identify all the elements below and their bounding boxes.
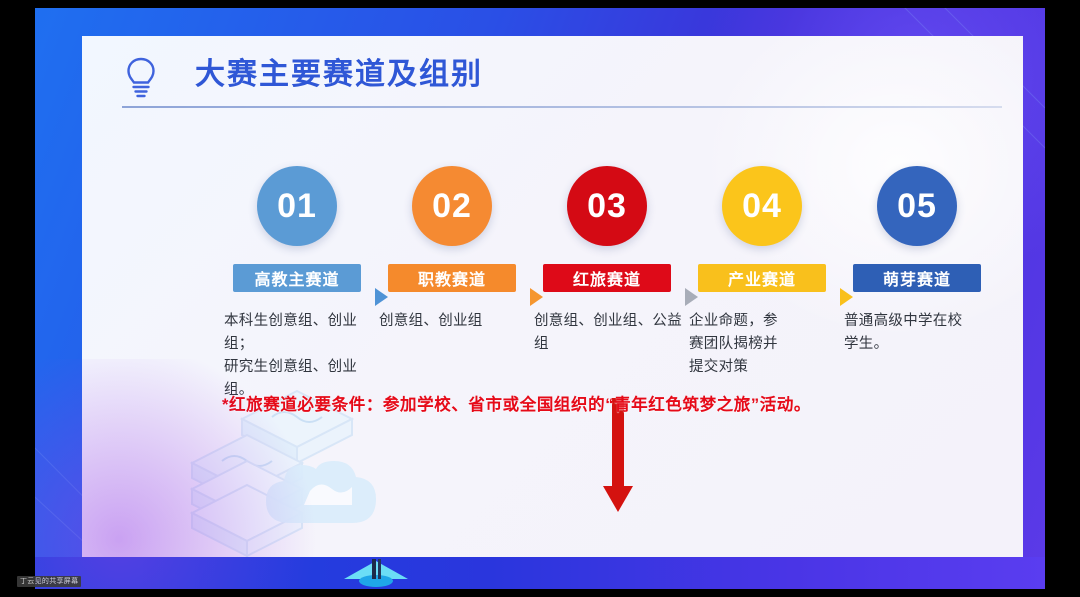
page-title: 大赛主要赛道及组别 (195, 53, 483, 97)
track-description: 普通高级中学在校学生。 (844, 310, 964, 356)
track-description: 企业命题，参赛团队揭榜并提交对策 (689, 310, 789, 379)
track-number-badge: 02 (412, 166, 492, 246)
track-tag[interactable]: 萌芽赛道 (853, 264, 981, 292)
track-columns: 01 高教主赛道 本科生创意组、创业组； 研究生创意组、创业组。 02 职教赛道… (82, 166, 1023, 466)
track-description: 创意组、创业组 (379, 310, 536, 333)
slide-canvas: 大赛主要赛道及组别 01 高教主赛道 本科生创意组、创业组； 研究生创意组、创业… (82, 36, 1023, 573)
arrow-separator-icon (530, 288, 543, 306)
track-column-04[interactable]: 04 产业赛道 企业命题，参赛团队揭榜并提交对策 (678, 166, 846, 379)
track-tag[interactable]: 高教主赛道 (233, 264, 361, 292)
presentation-backdrop: 大赛主要赛道及组别 01 高教主赛道 本科生创意组、创业组； 研究生创意组、创业… (35, 8, 1045, 589)
arrow-separator-icon (685, 288, 698, 306)
track-number-badge: 04 (722, 166, 802, 246)
arrow-separator-icon (375, 288, 388, 306)
bottom-decoration-band (35, 557, 1045, 589)
slide-header: 大赛主要赛道及组别 (112, 54, 1002, 110)
track-column-03[interactable]: 03 红旅赛道 创意组、创业组、公益组 (523, 166, 691, 356)
track-tag[interactable]: 产业赛道 (698, 264, 826, 292)
arrow-separator-icon (840, 288, 853, 306)
boat-illustration (340, 557, 412, 589)
track-number-badge: 01 (257, 166, 337, 246)
track-description: 本科生创意组、创业组； 研究生创意组、创业组。 (224, 310, 381, 402)
track-tag[interactable]: 职教赛道 (388, 264, 516, 292)
screen-share-badge: 丁云见的共享屏幕 (17, 576, 81, 587)
track-number-badge: 03 (567, 166, 647, 246)
track-column-02[interactable]: 02 职教赛道 创意组、创业组 (368, 166, 536, 333)
track-description: 创意组、创业组、公益组 (534, 310, 691, 356)
track-tag[interactable]: 红旅赛道 (543, 264, 671, 292)
track-column-05[interactable]: 05 萌芽赛道 普通高级中学在校学生。 (833, 166, 1001, 356)
track-number-badge: 05 (877, 166, 957, 246)
red-down-arrow-icon (601, 398, 635, 518)
video-frame: 大赛主要赛道及组别 01 高教主赛道 本科生创意组、创业组； 研究生创意组、创业… (0, 0, 1080, 597)
footnote-required-condition: *红旅赛道必要条件：参加学校、省市或全国组织的“青年红色筑梦之旅”活动。 (222, 391, 811, 415)
lightbulb-icon (124, 56, 158, 100)
track-column-01[interactable]: 01 高教主赛道 本科生创意组、创业组； 研究生创意组、创业组。 (213, 166, 381, 402)
title-divider (122, 106, 1002, 108)
